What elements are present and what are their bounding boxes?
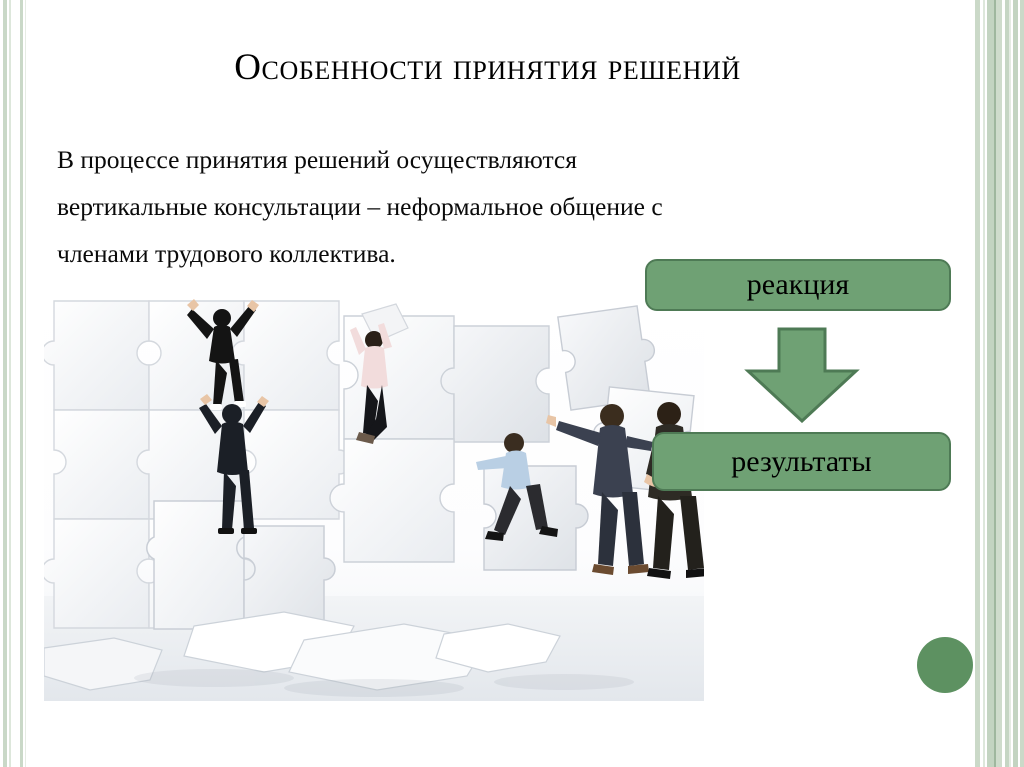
- right-stripes-band-7: [1005, 0, 1009, 767]
- right-stripes-band-2: [983, 0, 985, 767]
- left-stripes-band-1: [9, 0, 11, 767]
- left-edge-stripes: [0, 0, 34, 767]
- flow-box-reaction-label: реакция: [747, 268, 849, 302]
- right-edge-stripes: [975, 0, 1024, 767]
- right-stripes-band-9: [1013, 0, 1018, 767]
- arrow-down-icon: [744, 327, 860, 423]
- slide-canvas: Особенности принятия решений В процессе …: [0, 0, 1024, 767]
- right-stripes-band-3: [987, 0, 994, 767]
- decorative-dot: [917, 637, 973, 693]
- body-paragraph: В процессе принятия решений осуществляют…: [57, 136, 677, 277]
- right-stripes-band-1: [980, 0, 983, 767]
- flow-box-results[interactable]: результаты: [652, 432, 951, 491]
- page-title: Особенности принятия решений: [0, 46, 975, 89]
- flow-box-reaction[interactable]: реакция: [645, 259, 951, 311]
- right-stripes-band-11: [1020, 0, 1024, 767]
- puzzle-illustration: [44, 296, 704, 701]
- flow-box-results-label: результаты: [731, 445, 871, 479]
- left-stripes-band-3: [25, 0, 26, 767]
- right-stripes-band-0: [975, 0, 980, 767]
- left-stripes-band-0: [3, 0, 7, 767]
- right-stripes-band-8: [1009, 0, 1011, 767]
- right-stripes-band-5: [996, 0, 1002, 767]
- right-stripes-band-10: [1018, 0, 1020, 767]
- left-stripes-band-2: [20, 0, 23, 767]
- puzzle-teamwork-photo: [44, 296, 704, 701]
- right-stripes-band-6: [1002, 0, 1005, 767]
- right-stripes-band-4: [994, 0, 996, 767]
